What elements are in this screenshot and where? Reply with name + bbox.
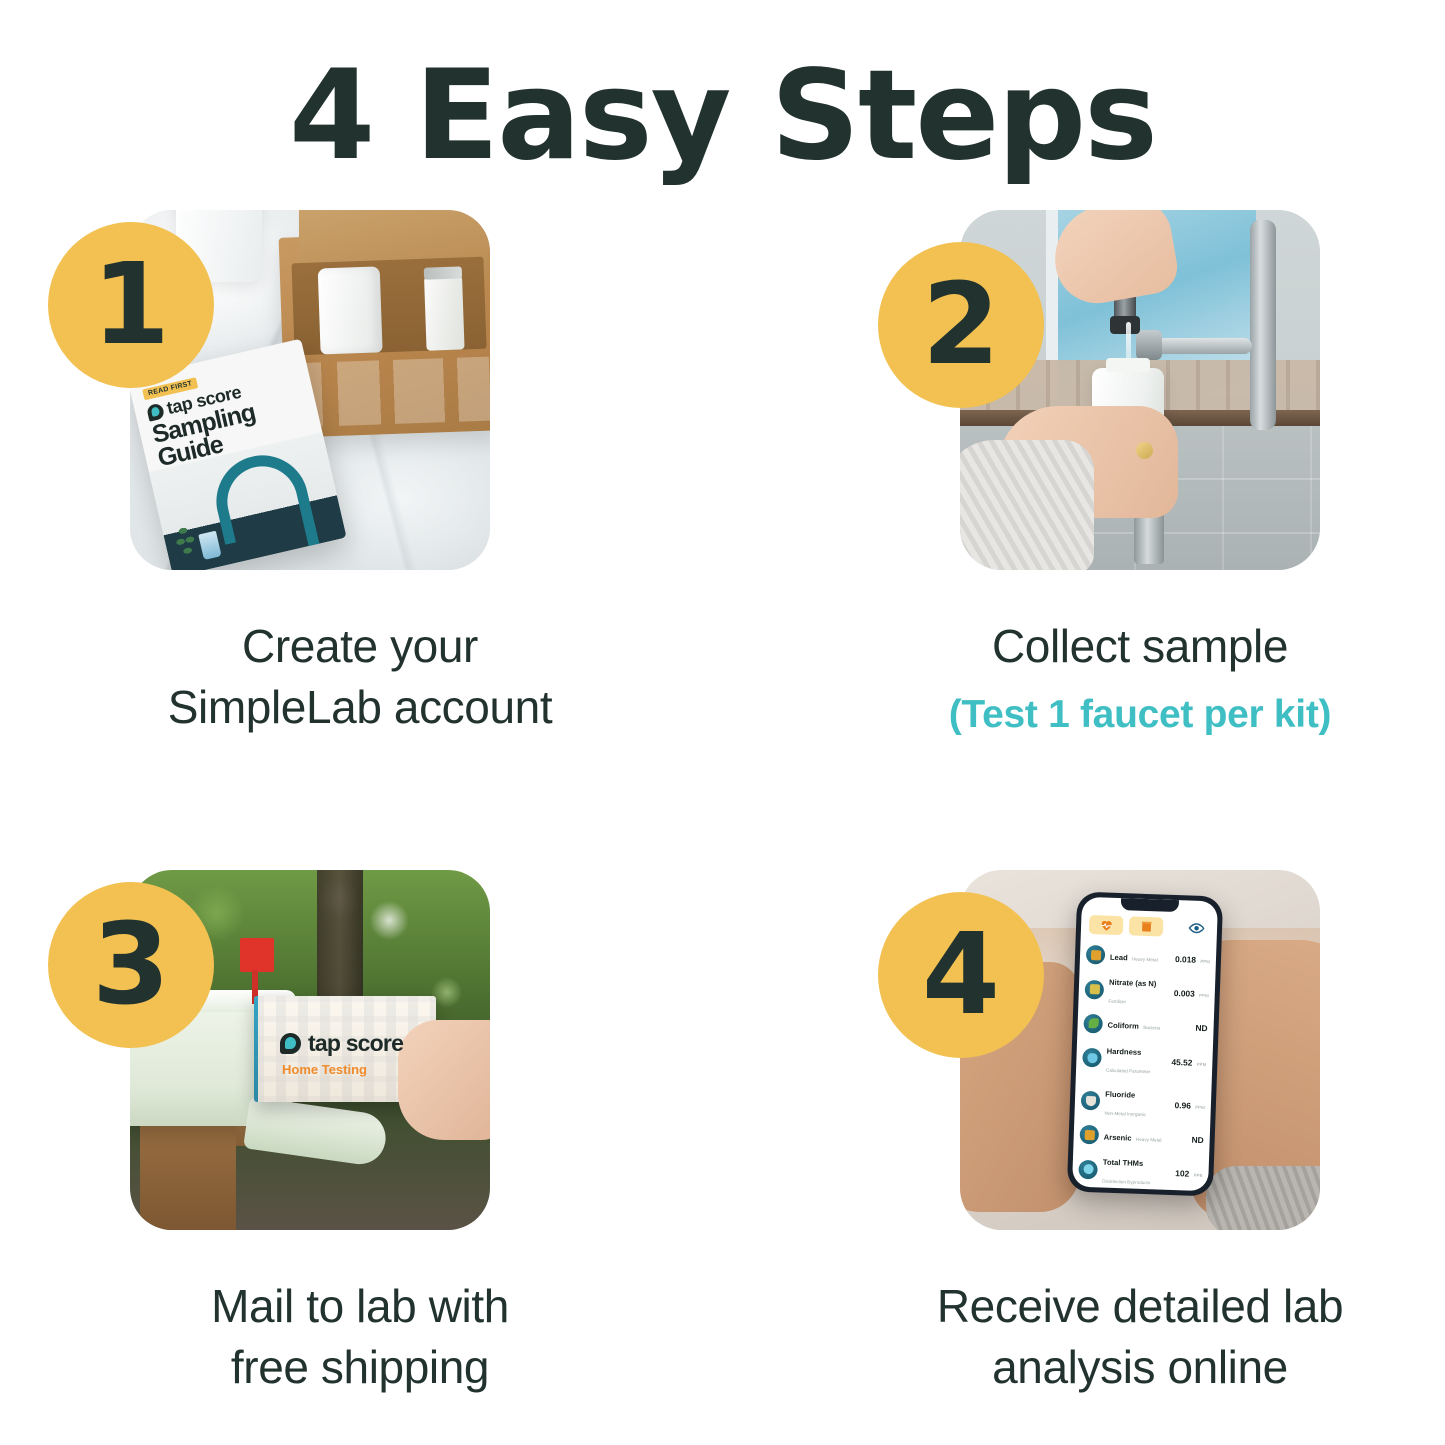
water-drop-icon [280, 1033, 301, 1054]
sweater-cuff [1206, 1166, 1320, 1230]
step-number-badge-1: 1 [48, 222, 214, 388]
analyte-icon [1085, 980, 1105, 1000]
faucet-body [1250, 220, 1276, 430]
analyte-value: 45.52 [1171, 1057, 1192, 1068]
analyte-name: Arsenic [1104, 1132, 1132, 1142]
step-card-4: Lead Heavy Metal 0.018 PPM [860, 870, 1420, 1397]
analyte-value: ND [1191, 1134, 1203, 1144]
step-2-caption: Collect sample (Test 1 faucet per kit) [860, 616, 1420, 740]
analyte-category: Disinfection Byproducts [1102, 1179, 1150, 1186]
step-2-caption-line1: Collect sample [860, 616, 1420, 677]
phone-screen: Lead Heavy Metal 0.018 PPM [1072, 897, 1218, 1192]
step-4-photo-wrap: Lead Heavy Metal 0.018 PPM [860, 870, 1420, 1230]
analyte-unit: PPM [1195, 1104, 1205, 1109]
step-2-photo-wrap: 2 [860, 210, 1420, 570]
mailbox-post [140, 1120, 236, 1230]
step-4-caption-line1: Receive detailed lab [860, 1276, 1420, 1337]
result-row[interactable]: Nitrate (as N) Fertilizer 0.003 PPM [1084, 968, 1209, 1015]
analyte-icon [1086, 945, 1106, 965]
heart-pulse-icon[interactable] [1089, 915, 1124, 935]
sweater-sleeve [960, 440, 1094, 570]
leaf-illustration-icon [170, 521, 201, 560]
analyte-name: Nitrate (as N) [1109, 978, 1157, 989]
result-row[interactable]: Fluoride Non-Metal Inorganic 0.96 PPM [1080, 1079, 1205, 1126]
analyte-category: Fertilizer [1108, 999, 1126, 1005]
shipping-box-brand: tap score [308, 1030, 403, 1057]
analyte-value: ND [1195, 1023, 1207, 1033]
sample-bottle [318, 266, 383, 354]
analyte-category: Heavy Metal [1136, 1137, 1162, 1143]
step-card-2: 2 Collect sample (Test 1 faucet per kit) [860, 210, 1420, 740]
phone-notch [1121, 898, 1179, 912]
analyte-icon [1081, 1091, 1101, 1111]
analyte-name: Total THMs [1103, 1158, 1144, 1168]
analyte-value: 0.003 [1174, 988, 1195, 999]
analyte-name: Fluoride [1105, 1089, 1135, 1099]
analyte-value: 0.96 [1174, 1100, 1191, 1111]
analyte-icon [1078, 1159, 1098, 1179]
analyte-value: 0.018 [1175, 954, 1196, 965]
analyte-icon [1079, 1125, 1099, 1145]
step-3-photo-wrap: tap score Home Testing 3 [40, 870, 680, 1230]
step-number-badge-2: 2 [878, 242, 1044, 408]
phone-device: Lead Heavy Metal 0.018 PPM [1067, 892, 1223, 1197]
step-1-caption: Create your SimpleLab account [40, 616, 680, 737]
analyte-unit: PPM [1199, 993, 1209, 998]
analyte-name: Lead [1110, 953, 1128, 963]
analyte-category: Calculated Parameter [1106, 1067, 1151, 1074]
faucet-spout [1156, 338, 1252, 354]
result-row[interactable]: Total THMs Disinfection Byproducts 102 P… [1078, 1147, 1203, 1191]
analyte-category: Non-Metal Inorganic [1104, 1110, 1146, 1116]
step-1-caption-line1: Create your [40, 616, 680, 677]
eye-icon[interactable] [1188, 919, 1206, 937]
analyte-icon [1083, 1014, 1103, 1034]
step-2-subcaption: (Test 1 faucet per kit) [860, 689, 1420, 740]
analyte-category: Heavy Metal [1132, 956, 1158, 962]
analyte-name: Coliform [1107, 1021, 1139, 1031]
glass-illustration-icon [198, 531, 221, 560]
box-print-pattern [293, 357, 490, 428]
hand-holding-box [398, 1020, 490, 1140]
step-1-photo-wrap: READ FIRST tap score Sampling Guide Powe… [40, 210, 680, 570]
kit-box-insert [291, 257, 486, 356]
step-3-caption: Mail to lab with free shipping [40, 1276, 680, 1397]
faucet-illustration-icon [207, 446, 315, 545]
analyte-value: 102 [1175, 1168, 1189, 1178]
step-3-caption-line2: free shipping [40, 1337, 680, 1398]
result-row[interactable]: Hardness Calculated Parameter 45.52 PPM [1082, 1036, 1207, 1083]
step-card-1: READ FIRST tap score Sampling Guide Powe… [40, 210, 680, 737]
mailbox-flag-icon [240, 938, 274, 972]
analyte-category: Bacteria [1143, 1025, 1160, 1031]
analyte-unit: PPM [1200, 959, 1210, 964]
results-list: Lead Heavy Metal 0.018 PPM [1072, 942, 1216, 1192]
page-title: 4 Easy Steps [0, 42, 1445, 191]
shipping-box-tagline: Home Testing [282, 1062, 367, 1077]
faucet-head [1136, 330, 1162, 360]
step-3-caption-line1: Mail to lab with [40, 1276, 680, 1337]
shipping-box-logo: tap score [280, 1030, 403, 1057]
ring-icon [1136, 442, 1153, 459]
step-number-badge-3: 3 [48, 882, 214, 1048]
step-1-caption-line2: SimpleLab account [40, 677, 680, 738]
analyte-name: Hardness [1107, 1046, 1142, 1056]
trash-bin-icon[interactable] [1129, 916, 1164, 936]
analyte-unit: PPM [1197, 1062, 1207, 1067]
analyte-icon [1082, 1048, 1102, 1068]
step-card-3: tap score Home Testing 3 Mail to lab wit… [40, 870, 680, 1397]
step-4-caption-line2: analysis online [860, 1337, 1420, 1398]
analyte-unit: PPB [1194, 1173, 1203, 1178]
step-number-badge-4: 4 [878, 892, 1044, 1058]
step-4-caption: Receive detailed lab analysis online [860, 1276, 1420, 1397]
infographic-page: 4 Easy Steps READ FI [0, 0, 1445, 1445]
sample-vial [424, 275, 465, 350]
